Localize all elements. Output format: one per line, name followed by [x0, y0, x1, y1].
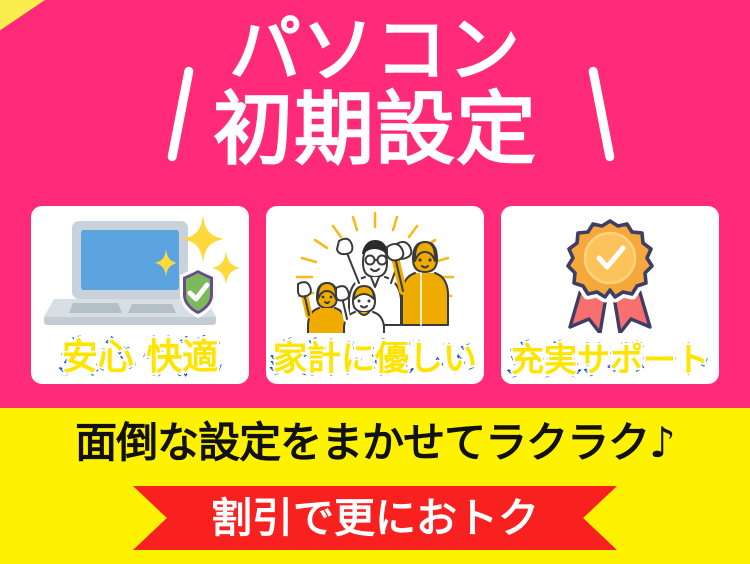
footer-headline: 面倒な設定をまかせてラクラク♪ — [0, 422, 750, 464]
hero-section: パソコン 初期設定 全国配送 — [0, 0, 750, 408]
feature-card-家計に優しい[interactable]: 家計に優しい — [266, 206, 484, 384]
hero-title-line-1: パソコン — [0, 14, 750, 87]
promo-banner: パソコン 初期設定 全国配送 — [0, 0, 750, 564]
award-rosette-icon — [501, 210, 719, 334]
discount-ribbon-label: 割引で更におトク — [211, 498, 539, 539]
feature-card-label: 安心 快適 — [31, 340, 249, 376]
feature-card-label: 家計に優しい — [266, 342, 484, 376]
discount-ribbon: 割引で更におトク — [133, 486, 617, 550]
laptop-shield-sparkle-icon — [31, 210, 249, 334]
feature-card-label: 充実サポート — [501, 343, 719, 376]
cheering-family-icon — [266, 210, 484, 334]
hero-title: パソコン 初期設定 — [0, 14, 750, 171]
hero-title-line-2: 初期設定 — [0, 89, 750, 171]
feature-card-充実サポート[interactable]: 充実サポート — [501, 206, 719, 384]
feature-card-list: 安心 快適 — [31, 206, 719, 384]
feature-card-安心快適[interactable]: 安心 快適 — [31, 206, 249, 384]
